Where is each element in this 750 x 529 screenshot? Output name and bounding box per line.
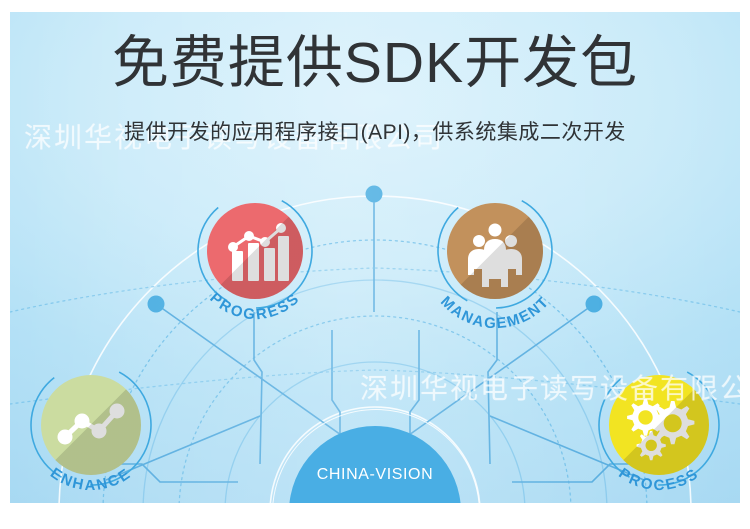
svg-text:MANAGEMENT: MANAGEMENT	[437, 293, 553, 332]
progress-label: PROGRESS	[175, 177, 335, 337]
page-subtitle: 提供开发的应用程序接口(API)，供系统集成二次开发	[10, 116, 740, 146]
management-label: MANAGEMENT	[410, 172, 580, 342]
hub-label: CHINA-VISION	[10, 466, 740, 484]
page-title: 免费提供SDK开发包	[10, 34, 740, 94]
svg-text:PROGRESS: PROGRESS	[206, 289, 303, 323]
banner-image: .solid { fill:none; stroke:#4fa9de; stro…	[0, 0, 750, 529]
banner-artwork: .solid { fill:none; stroke:#4fa9de; stro…	[10, 12, 740, 503]
